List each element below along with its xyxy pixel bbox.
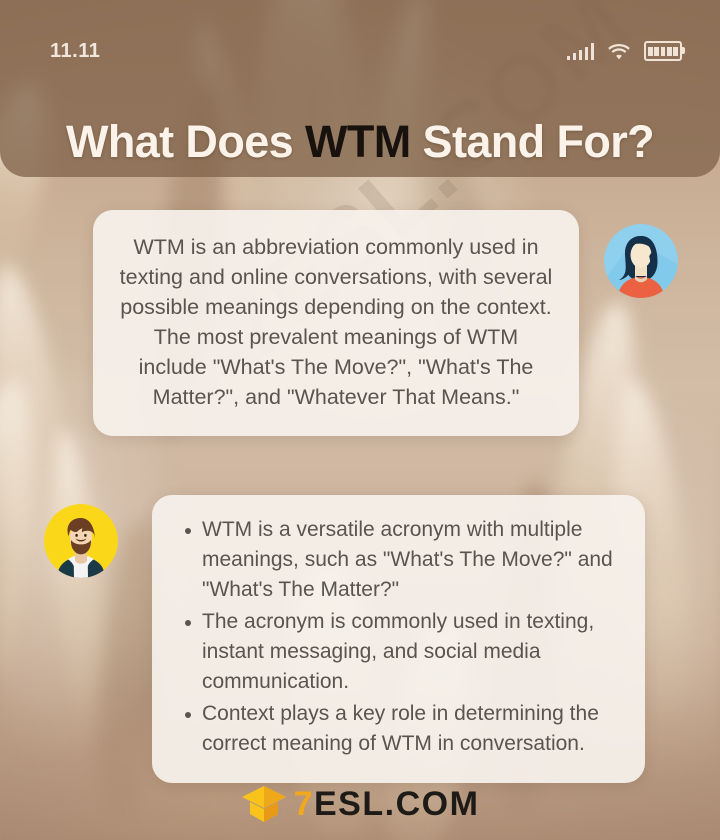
page-title: What Does WTM Stand For?: [0, 116, 720, 168]
status-bar: 11.11: [0, 36, 720, 66]
intro-card: WTM is an abbreviation commonly used in …: [93, 210, 579, 436]
list-item: WTM is a versatile acronym with multiple…: [202, 515, 621, 605]
header-bar: 11.11 What Does WTM Stand For?: [0, 0, 720, 177]
battery-icon: [644, 41, 682, 61]
male-avatar: [44, 504, 118, 578]
intro-card-text: WTM is an abbreviation commonly used in …: [119, 232, 553, 412]
page-title-before: What Does: [66, 116, 305, 167]
page-title-accent: WTM: [305, 116, 411, 167]
footer-logo[interactable]: 7ESL.COM: [0, 784, 720, 824]
logo-text: 7ESL.COM: [294, 787, 480, 821]
signal-icon: [567, 42, 595, 60]
status-bar-icons: [567, 41, 683, 61]
logo-seven: 7: [294, 785, 314, 823]
list-item: The acronym is commonly used in texting,…: [202, 607, 621, 697]
list-item: Context plays a key role in determining …: [202, 699, 621, 759]
logo-rest: ESL.COM: [314, 785, 479, 823]
points-card: WTM is a versatile acronym with multiple…: [152, 495, 645, 783]
points-list: WTM is a versatile acronym with multiple…: [176, 515, 621, 759]
female-avatar: [604, 224, 678, 298]
status-bar-time: 11.11: [50, 40, 100, 63]
page-title-after: Stand For?: [411, 116, 654, 167]
graduation-cap-icon: [241, 784, 287, 824]
wifi-icon: [608, 43, 630, 60]
poster-root: 7ESL.COM 11.11: [0, 0, 720, 840]
